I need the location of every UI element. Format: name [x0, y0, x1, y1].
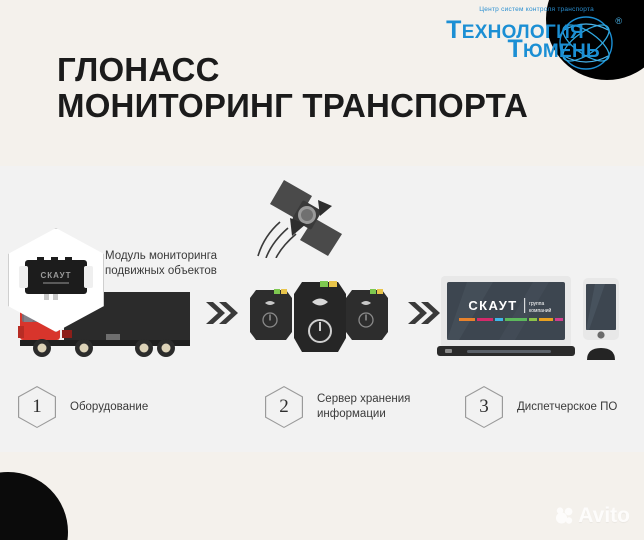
title-line-2: МОНИТОРИНГ ТРАНСПОРТА: [57, 88, 528, 124]
workstation-icons: СКАУТ группа компаний: [437, 274, 637, 362]
avito-dots-icon: [555, 507, 575, 525]
avito-label: Avito: [578, 504, 630, 528]
svg-text:СКАУТ: СКАУТ: [468, 298, 517, 313]
skaut-module-icon: СКАУТ: [17, 256, 95, 302]
brand-cap-2: Т: [507, 35, 523, 63]
step-2-label: Сервер хранения информации: [317, 392, 442, 422]
step-3-hexagon: 3: [465, 386, 503, 428]
step-1-number: 1: [32, 396, 42, 418]
footer-background: [0, 452, 644, 540]
steps-row: 1 Оборудование 2 Сервер хранения информа…: [0, 386, 644, 444]
monitoring-module-hexagon: СКАУТ: [8, 228, 104, 332]
double-chevron-right-icon: [406, 300, 440, 326]
step-1: 1 Оборудование: [18, 386, 148, 428]
brand-cap-1: Т: [446, 16, 462, 44]
step-2: 2 Сервер хранения информации: [265, 386, 442, 428]
brand-name-line2: ТЮМЕНЬ: [507, 35, 600, 64]
brand-logo: Центр систем контроля транспорта ТЕХНОЛО…: [440, 4, 630, 66]
brand-tagline: Центр систем контроля транспорта: [479, 6, 594, 13]
brand-rest-2: ЮМЕНЬ: [523, 41, 600, 62]
step-2-number: 2: [279, 396, 289, 418]
avito-watermark: Avito: [555, 504, 630, 528]
satellite-icon: [244, 174, 364, 258]
poster-canvas: Центр систем контроля транспорта ТЕХНОЛО…: [0, 0, 644, 540]
registered-trademark-icon: ®: [615, 16, 622, 26]
svg-text:СКАУТ: СКАУТ: [41, 271, 72, 280]
step-2-hexagon: 2: [265, 386, 303, 428]
server-units-icon: [248, 276, 394, 356]
step-3: 3 Диспетчерское ПО: [465, 386, 617, 428]
smartphone-icon: [583, 278, 619, 340]
step-3-number: 3: [479, 396, 489, 418]
step-3-label: Диспетчерское ПО: [517, 400, 617, 415]
step-1-hexagon: 1: [18, 386, 56, 428]
svg-text:компаний: компаний: [529, 307, 552, 314]
svg-text:группа: группа: [529, 301, 544, 307]
double-chevron-right-icon: [204, 300, 238, 326]
laptop-icon: СКАУТ группа компаний: [437, 276, 575, 356]
computer-mouse-icon: [587, 348, 615, 360]
process-diagram: СКАУТ Модуль мониторинга подвижных объек…: [0, 166, 644, 452]
module-label: Модуль мониторинга подвижных объектов: [105, 249, 255, 279]
step-1-label: Оборудование: [70, 400, 148, 415]
